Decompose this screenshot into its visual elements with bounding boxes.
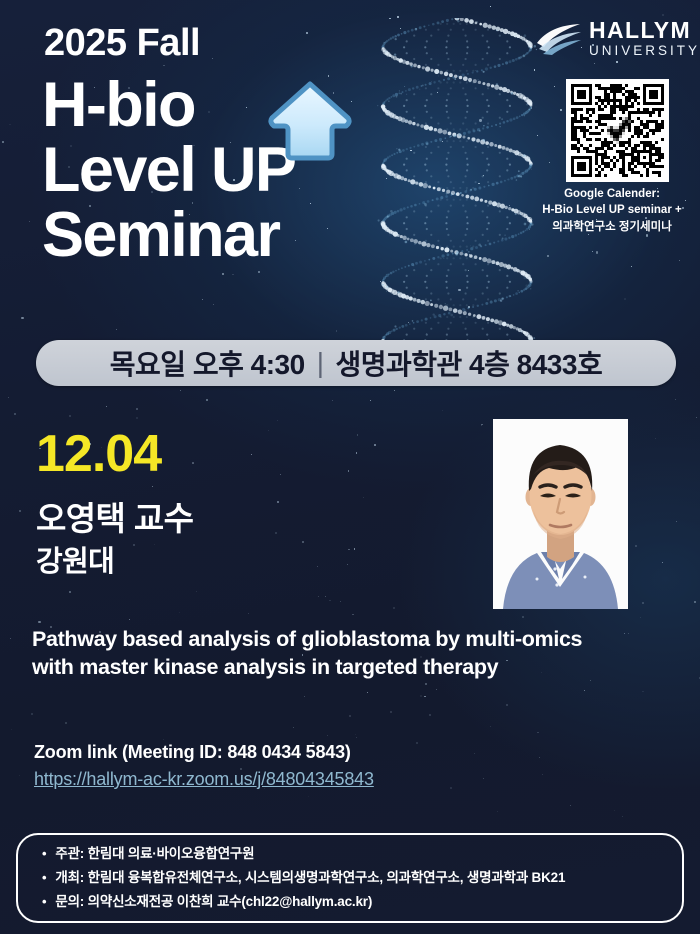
bullet-icon: •: [42, 868, 46, 888]
talk-title-line-1: Pathway based analysis of glioblastoma b…: [32, 626, 668, 654]
footer-info-box: • 주관: 한림대 의료·바이오융합연구원 • 개최: 한림대 융복합유전체연구…: [16, 833, 684, 923]
schedule-banner: 목요일 오후 4:30 | 생명과학관 4층 8433호: [36, 340, 676, 386]
seminar-poster: HALLYM UNIVERSITY Google Calender: H-Bio…: [0, 0, 700, 934]
zoom-meeting-label: Zoom link (Meeting ID: 848 0434 5843): [34, 742, 351, 763]
qr-caption-line-1: Google Calender:: [524, 186, 700, 202]
zoom-meeting-link[interactable]: https://hallym-ac-kr.zoom.us/j/848043458…: [34, 769, 374, 790]
logo-subtitle: UNIVERSITY: [589, 44, 700, 58]
headline-line-3: Seminar: [42, 203, 295, 268]
headline-line-2: Level UP: [42, 138, 295, 203]
footer-item-organizers: • 개최: 한림대 융복합유전체연구소, 시스템의생명과학연구소, 의과학연구소…: [42, 868, 660, 889]
speaker-name: 오영택 교수: [36, 492, 193, 540]
logo-name: HALLYM: [589, 19, 700, 42]
schedule-separator: |: [317, 347, 324, 379]
qr-caption-line-3: 의과학연구소 정기세미나: [524, 219, 700, 235]
poster-kicker: 2025 Fall: [44, 22, 200, 65]
talk-title: Pathway based analysis of glioblastoma b…: [32, 626, 668, 682]
hallym-wave-logo-icon: [536, 21, 582, 55]
footer-item-contact: • 문의: 의약신소재전공 이찬희 교수(chl22@hallym.ac.kr): [42, 892, 660, 913]
footer-item-organizers-text: 개최: 한림대 융복합유전체연구소, 시스템의생명과학연구소, 의과학연구소, …: [55, 868, 565, 889]
bullet-icon: •: [42, 892, 46, 912]
footer-item-host-text: 주관: 한림대 의료·바이오융합연구원: [55, 844, 254, 865]
headline-line-1: H-bio: [42, 73, 295, 138]
session-date: 12.04: [36, 424, 161, 484]
bullet-icon: •: [42, 844, 46, 864]
speaker-portrait: [493, 419, 628, 609]
qr-code-icon[interactable]: [566, 79, 669, 182]
talk-title-line-2: with master kinase analysis in targeted …: [32, 654, 668, 682]
speaker-affiliation: 강원대: [36, 538, 114, 580]
poster-headline: H-bio Level UP Seminar: [42, 73, 295, 268]
footer-item-host: • 주관: 한림대 의료·바이오융합연구원: [42, 844, 660, 865]
qr-caption-line-2: H-Bio Level UP seminar +: [524, 202, 700, 218]
arrow-up-icon: [266, 78, 354, 162]
qr-caption: Google Calender: H-Bio Level UP seminar …: [524, 186, 700, 235]
footer-item-contact-text: 문의: 의약신소재전공 이찬희 교수(chl22@hallym.ac.kr): [55, 892, 372, 913]
schedule-location: 생명과학관 4층 8433호: [335, 343, 602, 383]
hallym-logo: HALLYM UNIVERSITY: [536, 12, 694, 64]
schedule-day-time: 목요일 오후 4:30: [110, 343, 305, 383]
